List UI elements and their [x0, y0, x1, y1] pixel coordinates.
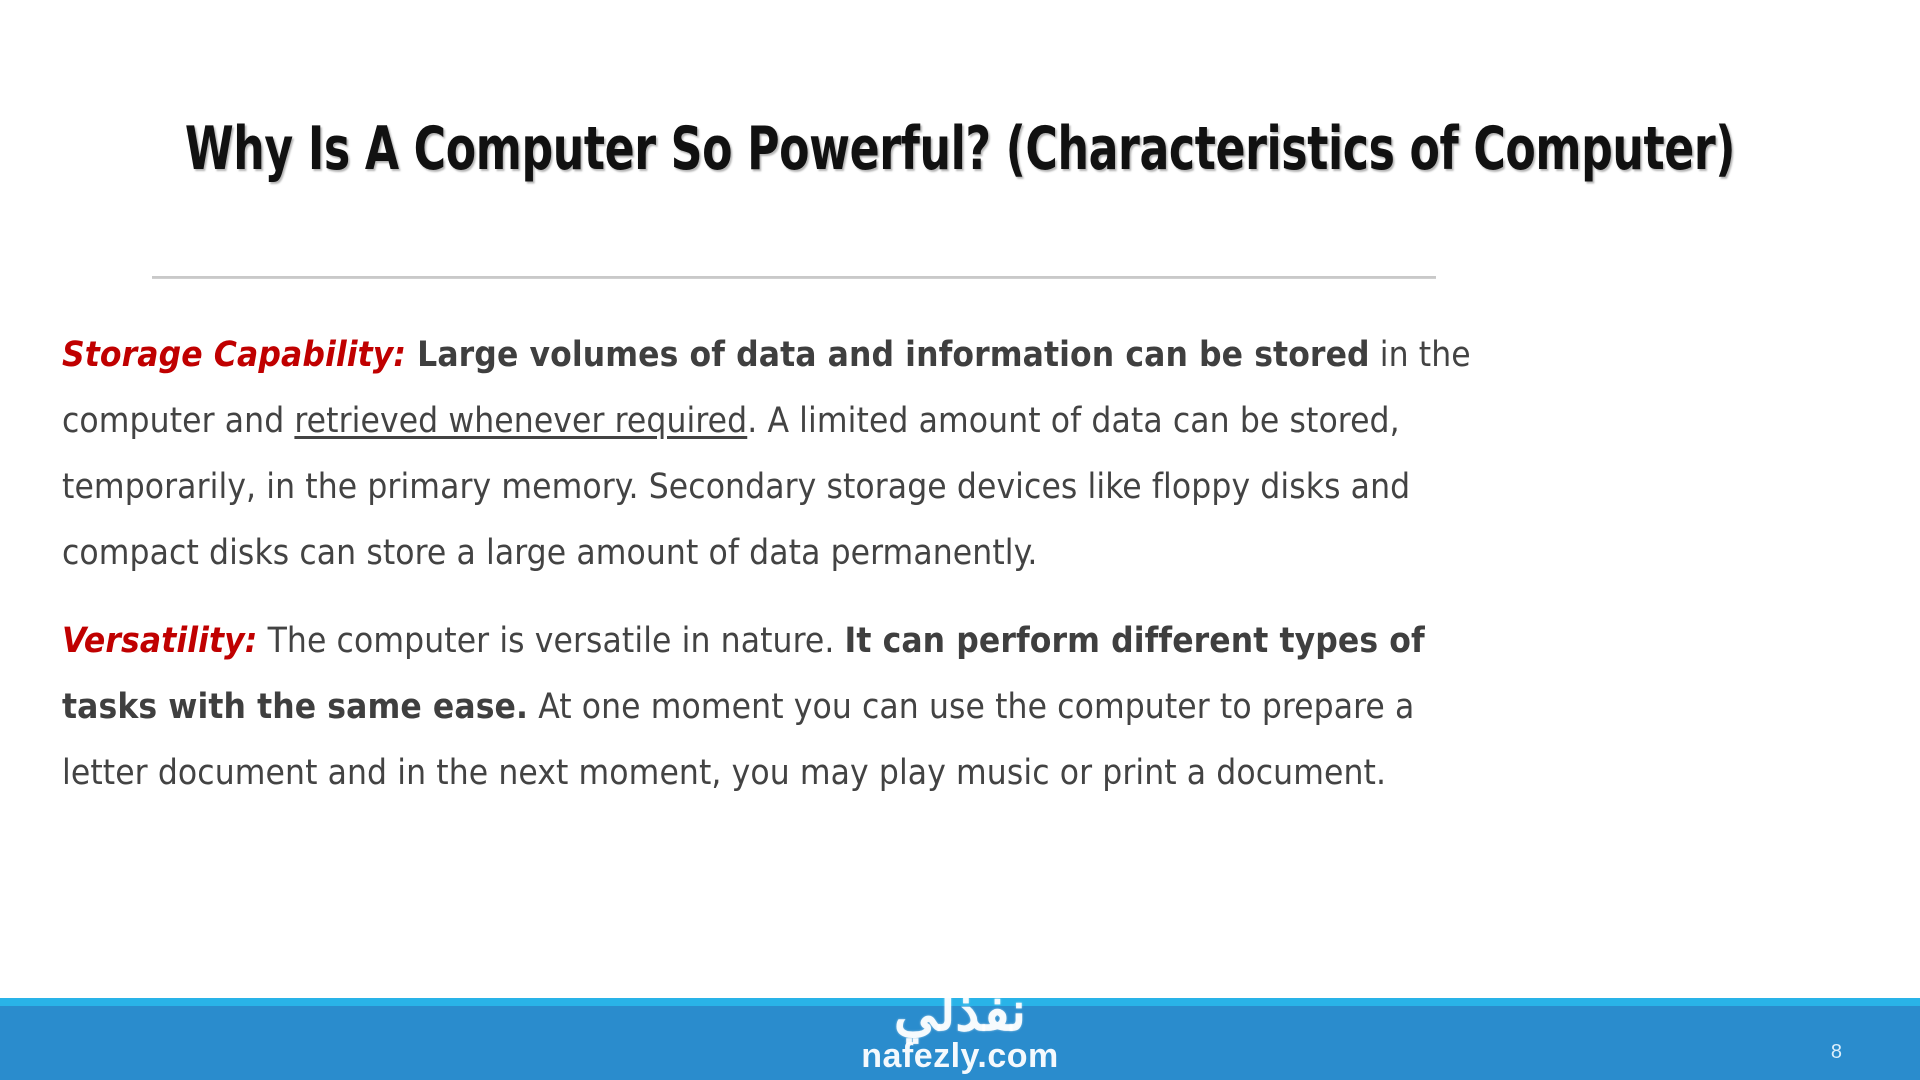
paragraph-bold-storage-1: Large volumes of data and information ca…: [406, 335, 1370, 375]
paragraph-lead-versatility: Versatility:: [62, 621, 258, 661]
paragraph-versatility: Versatility: The computer is versatile i…: [62, 608, 1502, 806]
paragraph-storage-capability: Storage Capability: Large volumes of dat…: [62, 322, 1502, 586]
paragraph-text-versatility-1: The computer is versatile in nature.: [258, 621, 845, 661]
page-title: Why Is A Computer So Powerful? (Characte…: [173, 118, 1747, 181]
body-content: Storage Capability: Large volumes of dat…: [62, 322, 1502, 828]
footer-bar: 8: [0, 1006, 1920, 1080]
slide-canvas: Why Is A Computer So Powerful? (Characte…: [0, 0, 1920, 1080]
title-divider: [152, 276, 1436, 278]
footer-accent-stripe: [0, 998, 1920, 1006]
title-block: Why Is A Computer So Powerful? (Characte…: [0, 118, 1920, 181]
paragraph-underline-storage-1: retrieved whenever required: [294, 401, 747, 441]
page-number: 8: [1831, 1041, 1842, 1064]
paragraph-lead-storage: Storage Capability:: [62, 335, 406, 375]
